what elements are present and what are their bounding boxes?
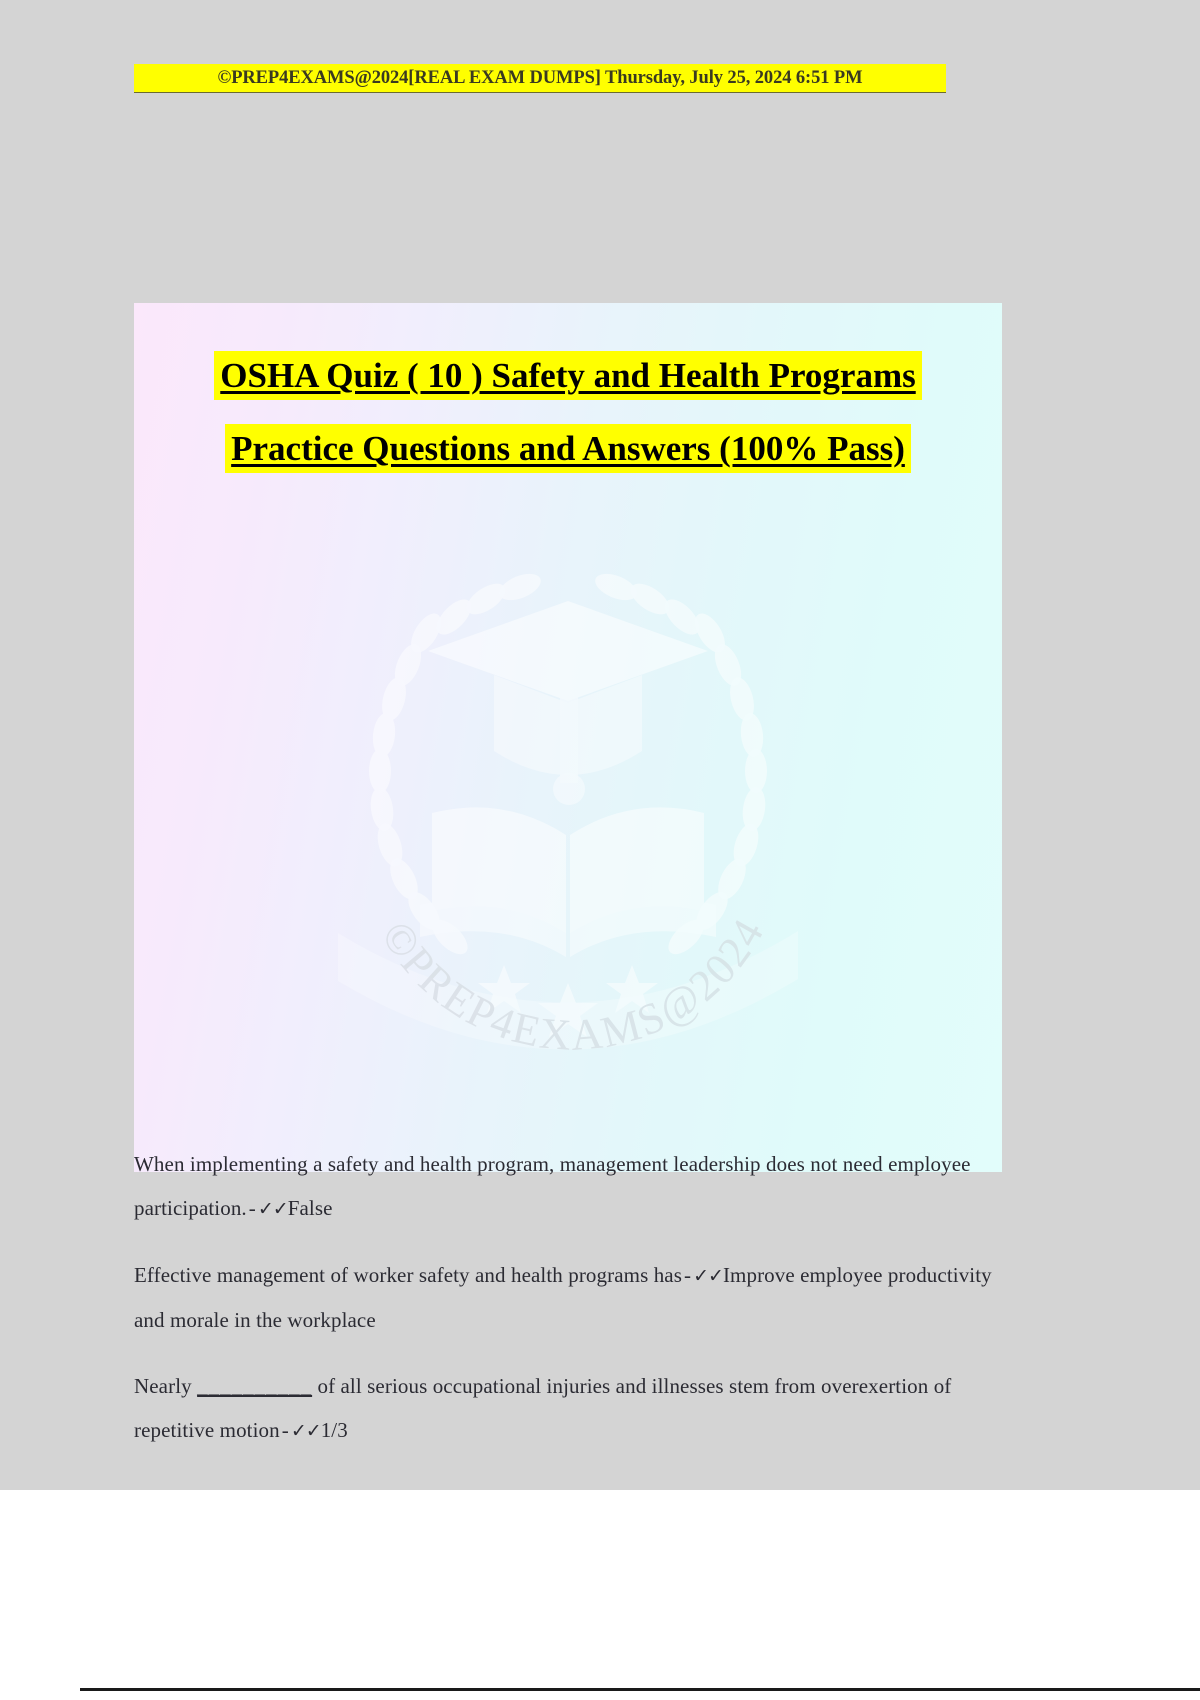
bottom-divider [80, 1688, 1200, 1691]
prep4exams-emblem-watermark: ©PREP4EXAMS@2024 [308, 513, 828, 1073]
document-title: OSHA Quiz ( 10 ) Safety and Health Progr… [134, 351, 1002, 473]
qa-blank-3: __________ [197, 1374, 312, 1398]
qa-tick-1: ✓✓ [258, 1198, 288, 1220]
document-header: ©PREP4EXAMS@2024[REAL EXAM DUMPS] Thursd… [134, 64, 950, 92]
qa-tick-3: ✓✓ [291, 1420, 321, 1442]
qa-separator-1: - [247, 1196, 258, 1220]
qa-item-2: Effective management of worker safety an… [134, 1253, 1010, 1342]
title-line-2: Practice Questions and Answers (100% Pas… [225, 424, 911, 473]
qa-item-3: Nearly __________ of all serious occupat… [134, 1364, 1010, 1453]
svg-text:©PREP4EXAMS@2024: ©PREP4EXAMS@2024 [372, 910, 774, 1060]
title-line-1: OSHA Quiz ( 10 ) Safety and Health Progr… [214, 351, 921, 400]
qa-separator-2: - [682, 1263, 693, 1287]
document-page: ©PREP4EXAMS@2024[REAL EXAM DUMPS] Thursd… [0, 0, 1200, 1490]
title-banner-block: ©PREP4EXAMS@2024 OSHA Quiz ( 10 ) Safety… [134, 303, 1002, 1172]
qa-question-3-pre: Nearly [134, 1374, 192, 1398]
qa-list: When implementing a safety and health pr… [134, 1142, 1010, 1475]
qa-answer-1: False [288, 1196, 333, 1220]
qa-separator-3: - [280, 1418, 291, 1442]
qa-question-2: Effective management of worker safety an… [134, 1263, 682, 1287]
header-watermark-text: ©PREP4EXAMS@2024[REAL EXAM DUMPS] Thursd… [134, 64, 946, 93]
page-bottom-whitespace [0, 1490, 1200, 1700]
qa-item-1: When implementing a safety and health pr… [134, 1142, 1010, 1231]
qa-answer-3: 1/3 [321, 1418, 348, 1442]
qa-tick-2: ✓✓ [693, 1265, 723, 1287]
